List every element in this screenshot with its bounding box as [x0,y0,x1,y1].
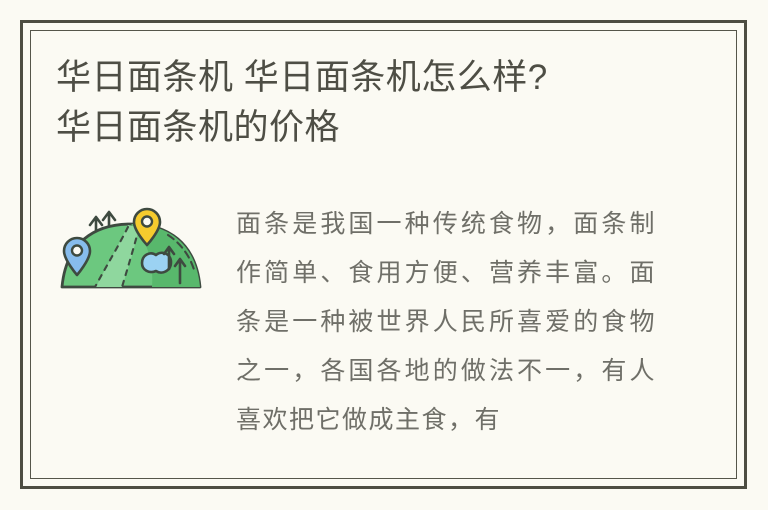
outer-frame-border: 华日面条机 华日面条机怎么样? 华日面条机的价格 [20,20,747,489]
page-title-line-2: 华日面条机的价格 [56,103,696,153]
inner-frame-border: 华日面条机 华日面条机怎么样? 华日面条机的价格 [30,30,737,479]
page-title-line-1: 华日面条机 华日面条机怎么样? [56,53,696,103]
map-hill-illustration [56,203,206,298]
article-paragraph: 面条是我国一种传统食物，面条制作简单、食用方便、营养丰富。面条是一种被世界人民所… [236,199,656,444]
page-root: 华日面条机 华日面条机怎么样? 华日面条机的价格 [0,0,768,510]
lake-shape [142,253,171,273]
article-body: 面条是我国一种传统食物，面条制作简单、食用方便、营养丰富。面条是一种被世界人民所… [236,199,656,444]
page-title: 华日面条机 华日面条机怎么样? 华日面条机的价格 [56,53,696,153]
